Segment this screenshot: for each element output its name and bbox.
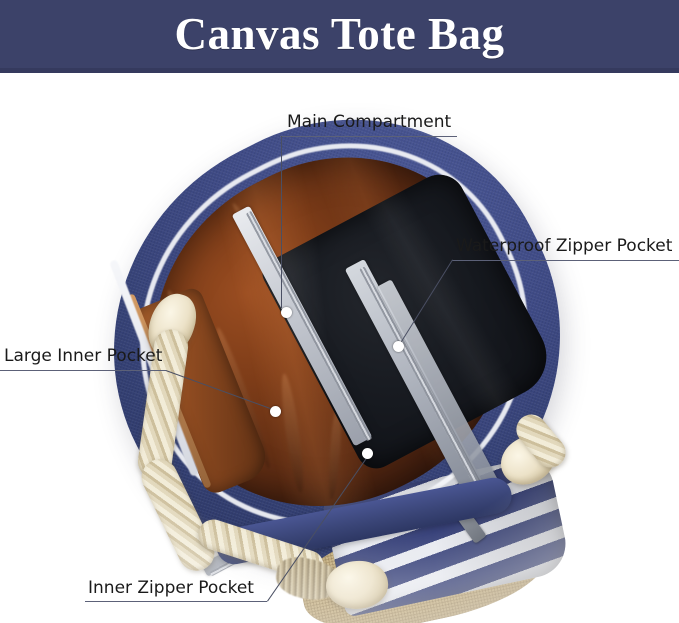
header-banner: Canvas Tote Bag <box>0 0 679 73</box>
callout-dot-large-inner-pocket <box>270 406 281 417</box>
callout-underline-inner-zipper-pocket <box>85 601 267 602</box>
callout-label-waterproof-zipper-pocket: Waterproof Zipper Pocket <box>456 236 672 257</box>
callout-underline-large-inner-pocket <box>0 370 166 371</box>
callout-leader-main-compartment <box>281 136 282 308</box>
callout-label-main-compartment: Main Compartment <box>287 112 451 133</box>
callout-underline-main-compartment <box>280 136 457 137</box>
callout-label-large-inner-pocket: Large Inner Pocket <box>4 346 162 367</box>
callout-underline-waterproof-zipper-pocket <box>452 260 679 261</box>
page-title: Canvas Tote Bag <box>174 12 504 57</box>
callout-dot-waterproof-zipper-pocket <box>393 341 404 352</box>
callout-dot-inner-zipper-pocket <box>362 448 373 459</box>
callout-dot-main-compartment <box>281 307 292 318</box>
callout-label-inner-zipper-pocket: Inner Zipper Pocket <box>88 578 254 599</box>
product-infographic: Canvas Tote Bag <box>0 0 679 623</box>
